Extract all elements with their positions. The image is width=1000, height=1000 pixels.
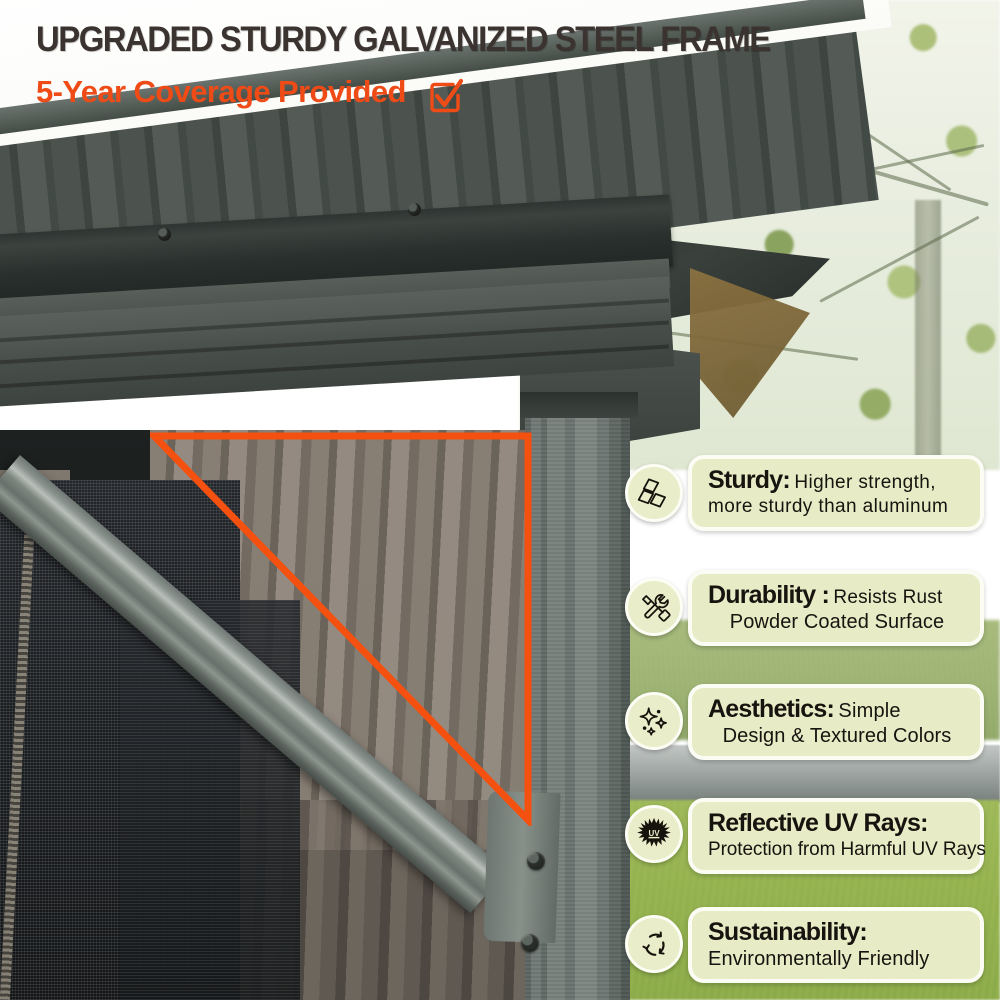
header: UPGRADED STURDY GALVANIZED STEEL FRAME 5… — [0, 0, 1000, 125]
feature-heading-row: Aesthetics: Simple — [708, 696, 966, 722]
roof-screw — [408, 203, 421, 216]
sparkles-glyph — [638, 705, 671, 738]
feature-heading-row: Sturdy: Higher strength, — [708, 467, 966, 493]
feature-line2: Powder Coated Surface — [708, 611, 966, 633]
sun-uv-glyph: UV — [637, 817, 671, 851]
feature-heading: Reflective UV Rays: — [708, 809, 928, 837]
feature-line2: Design & Textured Colors — [708, 725, 966, 747]
coverage-subtitle: 5-Year Coverage Provided — [36, 74, 406, 110]
feature-line2: Environmentally Friendly — [708, 948, 966, 970]
sparkles-icon — [625, 692, 683, 750]
steel-bars-icon — [625, 464, 683, 522]
feature-callout-sturdy: Sturdy: Higher strength, more sturdy tha… — [688, 455, 984, 531]
tools-glyph — [638, 591, 671, 624]
check-box-icon — [427, 78, 463, 114]
brace-bolt — [527, 852, 545, 870]
feature-lead: Simple — [838, 700, 900, 722]
feature-heading-row: Reflective UV Rays: — [708, 810, 966, 836]
svg-text:UV: UV — [648, 829, 660, 838]
page-title: UPGRADED STURDY GALVANIZED STEEL FRAME — [36, 20, 770, 60]
feature-callout-uv: Reflective UV Rays: Protection from Harm… — [688, 798, 984, 874]
roof-screw — [158, 228, 171, 241]
feature-heading-row: Durability : Resists Rust — [708, 582, 966, 608]
feature-lead: Higher strength, — [794, 472, 936, 493]
sun-uv-icon: UV — [625, 805, 683, 863]
feature-line2: more sturdy than aluminum — [708, 496, 966, 517]
feature-heading: Sturdy: — [708, 466, 790, 494]
tools-wrench-screwdriver-icon — [625, 578, 683, 636]
feature-line2: Protection from Harmful UV Rays — [708, 839, 966, 860]
recycle-glyph — [638, 928, 671, 961]
recycle-icon — [625, 915, 683, 973]
feature-callout-durability: Durability : Resists Rust Powder Coated … — [688, 570, 984, 646]
brace-mounting-plate — [483, 791, 560, 943]
feature-heading: Durability : — [708, 581, 829, 609]
feature-heading: Sustainability: — [708, 918, 867, 946]
feature-heading: Aesthetics: — [708, 695, 834, 723]
feature-callout-sustainability: Sustainability: Environmentally Friendly — [688, 907, 984, 983]
corner-post-cap — [520, 392, 638, 418]
feature-callout-aesthetics: Aesthetics: Simple Design & Textured Col… — [688, 684, 984, 760]
feature-lead: Resists Rust — [833, 587, 942, 608]
feature-heading-row: Sustainability: — [708, 919, 966, 945]
brace-bolt — [521, 934, 539, 952]
steel-bars-glyph — [637, 476, 671, 510]
product-feature-infographic: UPGRADED STURDY GALVANIZED STEEL FRAME 5… — [0, 0, 1000, 1000]
